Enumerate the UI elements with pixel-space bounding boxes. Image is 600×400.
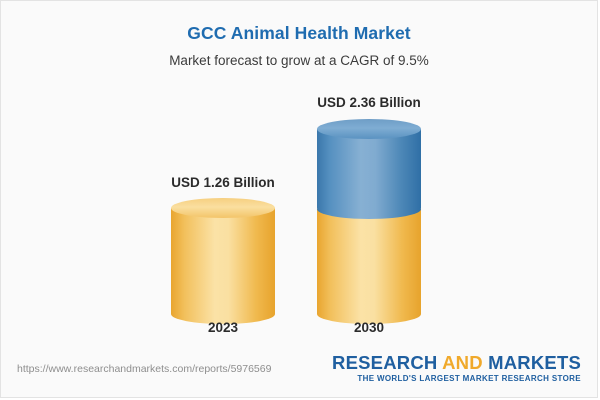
logo-word-research: RESEARCH [332, 352, 442, 373]
cylinder-top-ellipse-2030 [317, 119, 421, 139]
cylinder-body-2023 [171, 208, 275, 314]
value-label-2023: USD 1.26 Billion [113, 175, 333, 190]
cylinder-segment-growth-2030 [317, 129, 421, 208]
cylinder-segment-growth-bottom-ellipse-2030 [317, 199, 421, 219]
cylinder-top-ellipse-2023 [171, 198, 275, 218]
plot-area: USD 1.26 Billion 2023 USD 2.36 Billion [1, 1, 598, 398]
logo-word-markets: MARKETS [488, 352, 581, 373]
logo-word-and: AND [442, 352, 488, 373]
research-and-markets-logo[interactable]: RESEARCH AND MARKETS THE WORLD'S LARGEST… [332, 353, 581, 383]
value-label-2030: USD 2.36 Billion [259, 95, 479, 110]
logo-tagline: THE WORLD'S LARGEST MARKET RESEARCH STOR… [332, 374, 581, 383]
category-label-2030: 2030 [279, 320, 459, 335]
cylinder-segment-base-2030 [317, 208, 421, 314]
source-url[interactable]: https://www.researchandmarkets.com/repor… [17, 363, 271, 375]
logo-wordmark: RESEARCH AND MARKETS [332, 353, 581, 372]
chart-card: GCC Animal Health Market Market forecast… [0, 0, 598, 398]
